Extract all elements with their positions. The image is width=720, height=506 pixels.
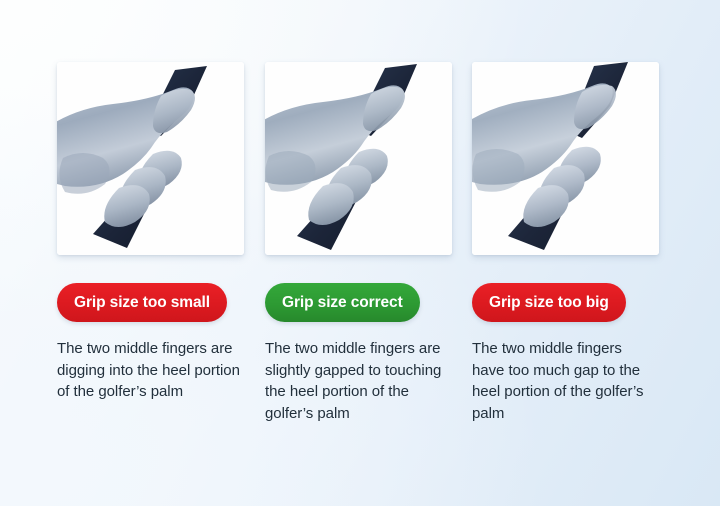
badge-row: Grip size correct — [265, 283, 452, 322]
caption-grip-too-small: The two middle fingers are digging into … — [57, 338, 250, 403]
status-badge-grip-correct: Grip size correct — [265, 283, 420, 322]
comparison-column-grip-correct: Grip size correct The two middle fingers… — [265, 62, 452, 424]
photo-card — [57, 62, 244, 255]
comparison-columns: Grip size too small The two middle finge… — [0, 0, 720, 506]
caption-grip-correct: The two middle fingers are slightly gapp… — [265, 338, 455, 424]
comparison-column-grip-too-big: Grip size too big The two middle fingers… — [472, 62, 659, 424]
caption-grip-too-big: The two middle fingers have too much gap… — [472, 338, 652, 424]
status-badge-grip-too-big: Grip size too big — [472, 283, 626, 322]
badge-row: Grip size too big — [472, 283, 659, 322]
badge-row: Grip size too small — [57, 283, 244, 322]
photo-card — [265, 62, 452, 255]
status-badge-grip-too-small: Grip size too small — [57, 283, 227, 322]
comparison-column-grip-too-small: Grip size too small The two middle finge… — [57, 62, 244, 403]
photo-card — [472, 62, 659, 255]
grip-photo-too-big — [472, 62, 659, 255]
grip-photo-correct — [265, 62, 452, 255]
infographic-canvas: Grip size too small The two middle finge… — [0, 0, 720, 506]
grip-photo-too-small — [57, 62, 244, 255]
